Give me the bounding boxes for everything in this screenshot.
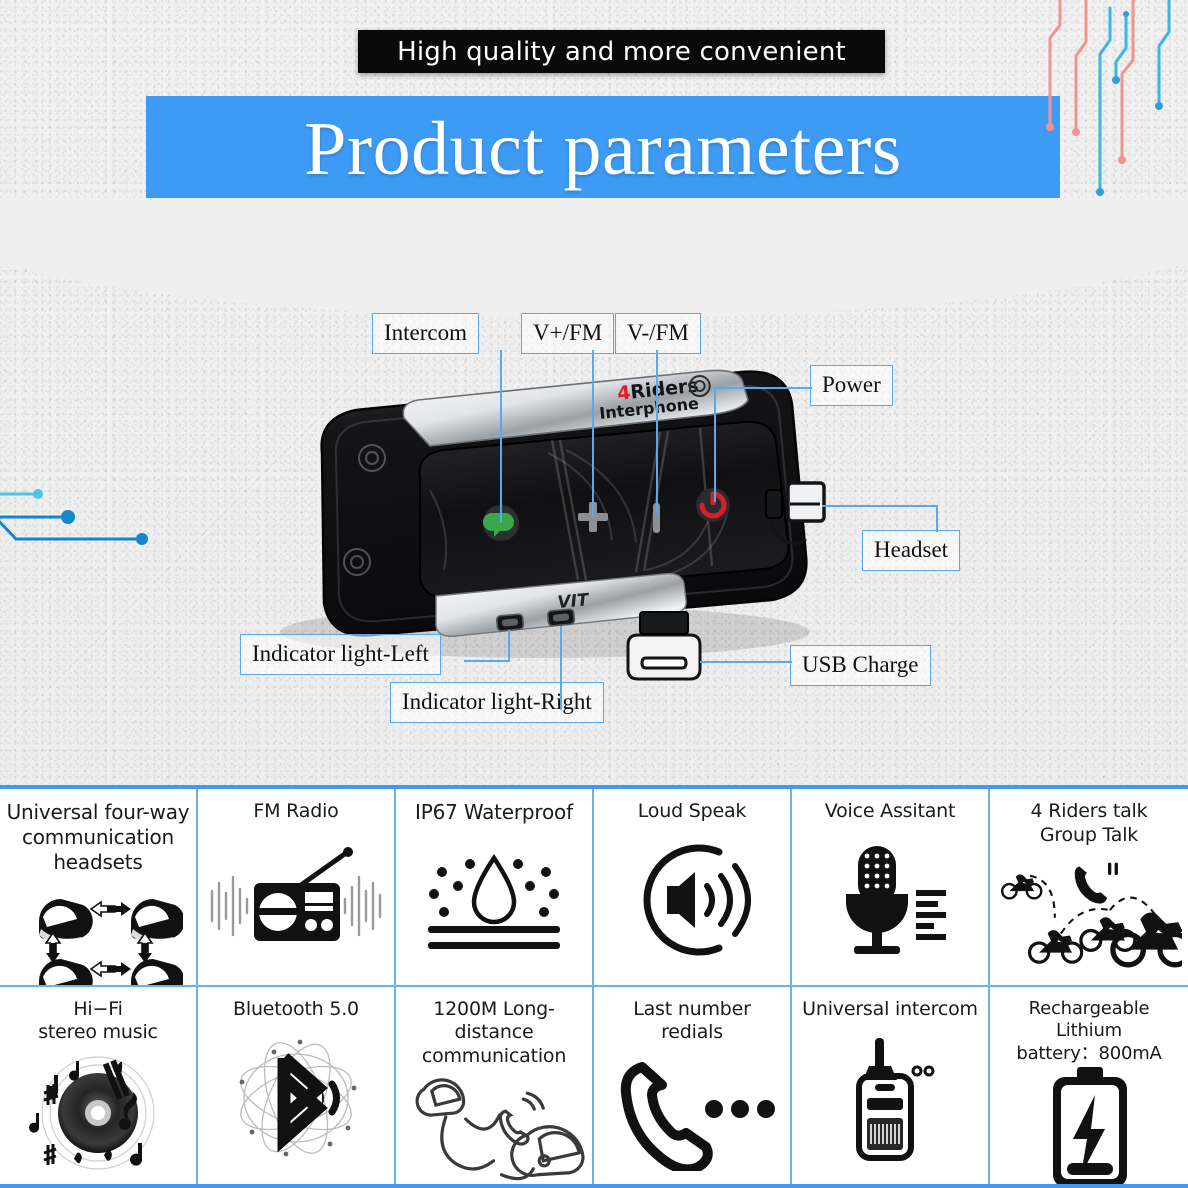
callout-indicator-left: Indicator light-Left — [240, 634, 441, 675]
feature-grid: Universal four-way communication headset… — [0, 785, 1188, 1188]
phone-handset-icon — [600, 1045, 784, 1176]
riders-group-icon — [996, 848, 1182, 977]
leader-line-led-right-v — [560, 626, 562, 710]
radio-icon — [204, 824, 388, 977]
feature-cell-voice-assistant: Voice Assitant — [792, 789, 990, 987]
callout-indicator-right: Indicator light-Right — [390, 682, 604, 723]
infographic-page: High quality and more convenient Product… — [0, 0, 1188, 1188]
leader-line-headset-h — [822, 505, 938, 507]
leader-line-headset-v — [936, 505, 938, 532]
water-drop-icon — [402, 825, 586, 977]
feature-cell-fm-radio: FM Radio — [198, 789, 396, 987]
feature-cell-bluetooth: Bluetooth 5.0 — [198, 987, 396, 1185]
feature-caption: Rechargeable Lithium battery：800mA — [996, 998, 1182, 1066]
tagline-text: High quality and more convenient — [397, 37, 846, 67]
feature-caption: FM Radio — [253, 800, 338, 824]
callout-volume-down: V-/FM — [615, 313, 701, 354]
callout-intercom: Intercom — [372, 313, 479, 354]
feature-caption: Hi−Fi stereo music — [38, 998, 158, 1046]
title-banner: Product parameters — [146, 96, 1060, 201]
feature-caption: IP67 Waterproof — [415, 800, 573, 825]
tagline-banner: High quality and more convenient — [358, 30, 885, 73]
cd-music-icon — [6, 1045, 190, 1176]
callout-label: Indicator light-Right — [402, 689, 592, 714]
callout-usb-charge: USB Charge — [790, 645, 931, 686]
callout-label: Power — [822, 372, 881, 397]
feature-caption: Loud Speak — [638, 800, 746, 824]
feature-cell-group-talk: 4 Riders talk Group Talk — [990, 789, 1188, 987]
feature-caption: 1200M Long-distance communication — [402, 998, 586, 1069]
leader-line-power-h — [714, 387, 812, 389]
callout-label: V-/FM — [627, 320, 689, 345]
indicator-led-left — [496, 614, 523, 631]
feature-cell-universal-intercom: Universal intercom — [792, 987, 990, 1185]
leader-line-volume-down — [656, 350, 658, 513]
callout-label: Intercom — [384, 320, 467, 345]
feature-caption: Universal four-way communication headset… — [6, 800, 190, 875]
feature-cell-redial: Last number redials — [594, 987, 792, 1185]
feature-caption: Voice Assitant — [825, 800, 955, 824]
callout-headset: Headset — [862, 530, 960, 571]
feature-cell-loud-speak: Loud Speak — [594, 789, 792, 987]
feature-cell-four-way: Universal four-way communication headset… — [0, 789, 198, 987]
two-helmets-call-icon — [402, 1069, 586, 1184]
power-button-red — [696, 488, 730, 522]
leader-line-intercom — [500, 350, 502, 523]
leader-line-power-v — [714, 387, 716, 502]
microphone-icon — [798, 824, 982, 977]
page-title: Product parameters — [304, 111, 902, 187]
feature-cell-waterproof: IP67 Waterproof — [396, 789, 594, 987]
circuit-trace-decoration-top-right — [1038, 0, 1188, 215]
indicator-led-right — [547, 609, 574, 626]
feature-caption: Last number redials — [600, 998, 784, 1046]
battery-bolt-icon — [996, 1065, 1182, 1184]
feature-cell-hifi: Hi−Fi stereo music — [0, 987, 198, 1185]
callout-label: Headset — [874, 537, 948, 562]
feature-caption: 4 Riders talk Group Talk — [1031, 800, 1148, 848]
callout-volume-up: V+/FM — [521, 313, 614, 354]
leader-line-led-left-h — [464, 660, 510, 662]
bluetooth-icon — [204, 1021, 388, 1176]
leader-line-usb-h — [700, 661, 792, 663]
leader-line-led-left-v — [508, 630, 510, 662]
feature-cell-battery: Rechargeable Lithium battery：800mA — [990, 987, 1188, 1185]
feature-cell-long-distance: 1200M Long-distance communication — [396, 987, 594, 1185]
callout-label: V+/FM — [533, 320, 602, 345]
feature-caption: Universal intercom — [802, 998, 978, 1022]
callout-label: Indicator light-Left — [252, 641, 429, 666]
feature-caption: Bluetooth 5.0 — [233, 998, 359, 1022]
leader-line-volume-up — [592, 350, 594, 517]
four-helmets-icon — [6, 875, 190, 987]
walkie-talkie-icon — [798, 1021, 982, 1176]
callout-label: USB Charge — [802, 652, 919, 677]
callout-power: Power — [810, 365, 893, 406]
product-diagram: 4Riders Interphone — [0, 240, 1188, 780]
speaker-icon — [600, 824, 784, 977]
